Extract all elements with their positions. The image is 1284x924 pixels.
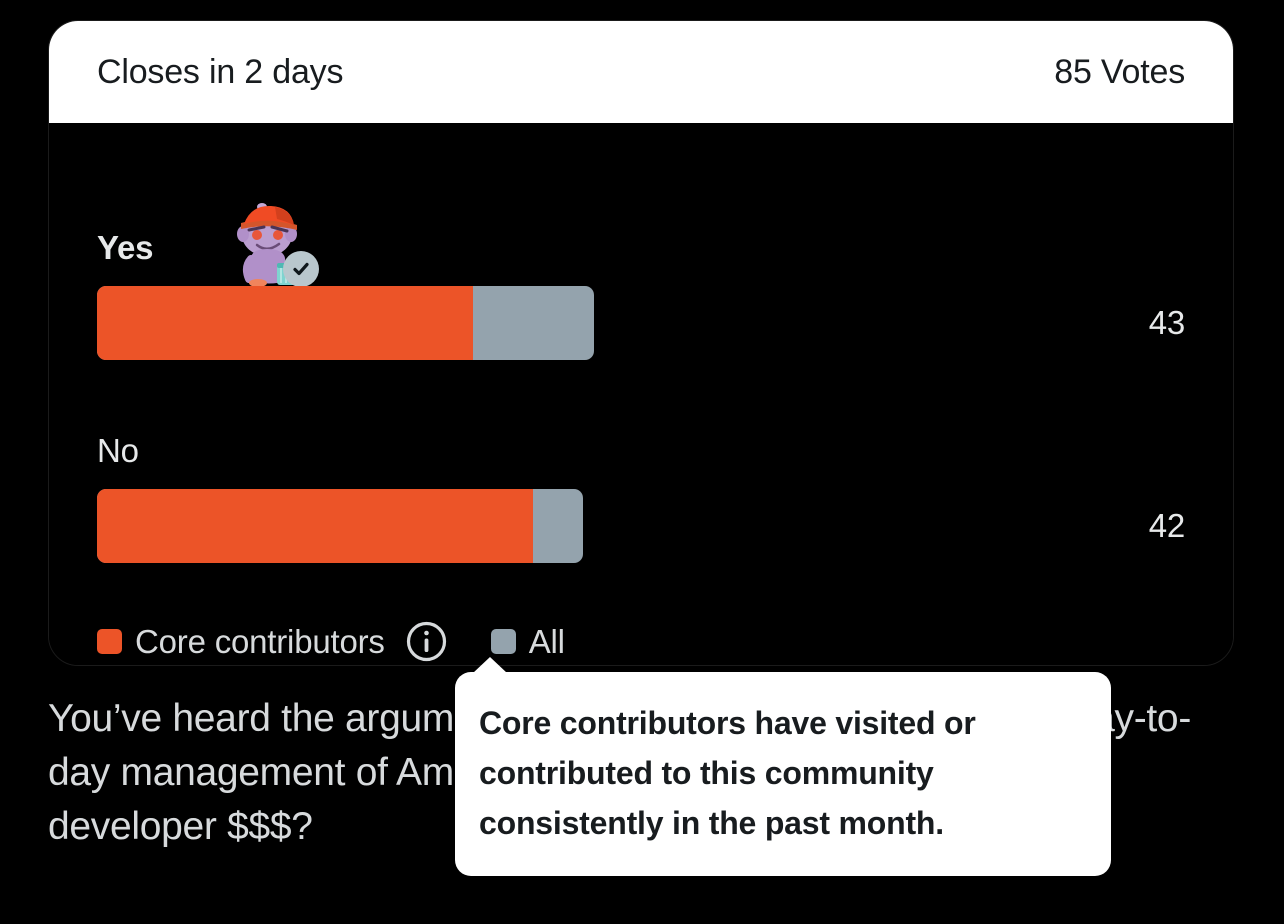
legend-label-core-contributors: Core contributors xyxy=(135,625,385,658)
poll-option-yes-count: 43 xyxy=(1149,304,1185,342)
poll-header: Closes in 2 days 85 Votes xyxy=(49,21,1233,123)
poll-option-no[interactable]: No 42 xyxy=(49,412,1233,564)
info-icon[interactable] xyxy=(406,621,447,662)
poll-option-no-label: No xyxy=(97,434,139,467)
info-circle-icon[interactable] xyxy=(406,621,447,662)
poll-bar-no-core-fill xyxy=(97,489,533,563)
tooltip-text: Core contributors have visited or contri… xyxy=(479,698,1087,848)
poll-bar-yes xyxy=(97,286,594,360)
poll-option-yes-bar-row: 43 xyxy=(49,285,1233,361)
poll-option-yes[interactable]: Yes xyxy=(49,209,1233,361)
poll-bar-yes-core-fill xyxy=(97,286,473,360)
core-contributors-tooltip: Core contributors have visited or contri… xyxy=(455,672,1111,876)
poll-option-yes-label: Yes xyxy=(97,231,153,264)
poll-closes-label: Closes in 2 days xyxy=(97,55,343,89)
poll-card: Closes in 2 days 85 Votes Yes xyxy=(48,20,1234,666)
legend-label-all: All xyxy=(529,625,565,658)
poll-option-no-count: 42 xyxy=(1149,507,1185,545)
check-icon xyxy=(290,258,312,280)
poll-votes-count: 85 Votes xyxy=(1054,55,1185,89)
voter-avatar xyxy=(231,201,309,287)
poll-body: Yes xyxy=(49,123,1233,665)
poll-option-no-bar-row: 42 xyxy=(49,488,1233,564)
poll-bar-no xyxy=(97,489,583,563)
legend-swatch-core-contributors xyxy=(97,629,122,654)
poll-option-yes-header: Yes xyxy=(49,209,1233,285)
poll-option-no-header: No xyxy=(49,412,1233,488)
voted-badge xyxy=(283,251,319,287)
tooltip-arrow-icon xyxy=(473,657,507,673)
legend-swatch-all xyxy=(491,629,516,654)
